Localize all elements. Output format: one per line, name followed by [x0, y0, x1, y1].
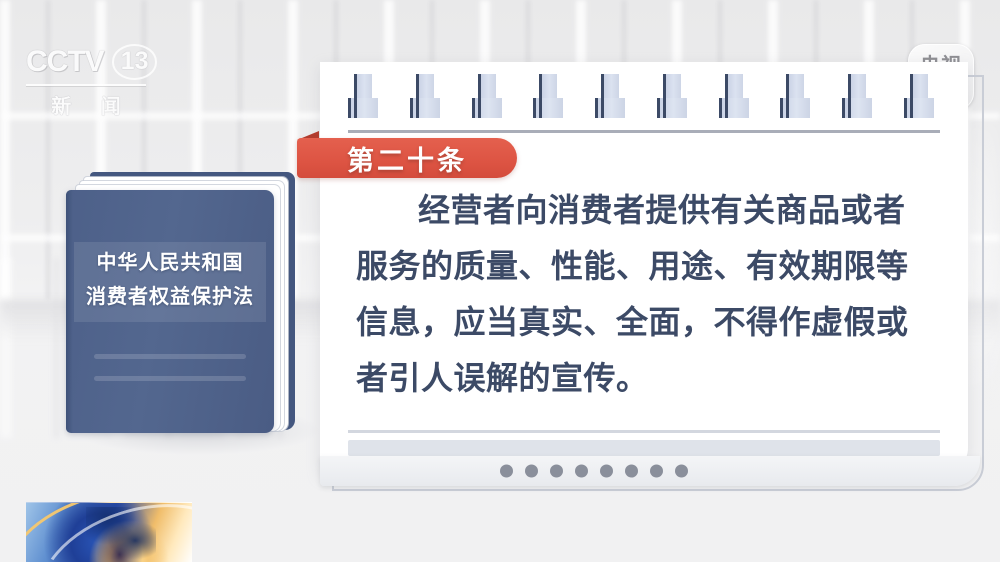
binding-ring-top: [911, 74, 928, 100]
binding-ring-shadow: [410, 98, 413, 118]
binding-ring: [657, 74, 691, 118]
article-number-ribbon: 第二十条: [297, 138, 517, 178]
book-title: 中华人民共和国 消费者权益保护法: [74, 246, 266, 314]
card-bottom-slot: [348, 440, 940, 456]
book-title-line-1: 中华人民共和国: [74, 246, 266, 280]
book-title-line-2: 消费者权益保护法: [74, 280, 266, 314]
binding-ring-shadow: [601, 74, 604, 118]
binding-ring-top: [479, 74, 496, 100]
page-indicator-dot: [550, 465, 563, 478]
binding-ring-top: [540, 74, 557, 100]
book-decor-line: [94, 376, 246, 381]
binding-ring-shadow: [595, 98, 598, 118]
binding-ring: [842, 74, 876, 118]
binding-ring-shadow: [786, 74, 789, 118]
book-front-cover: 中华人民共和国 消费者权益保护法: [66, 190, 274, 433]
card-bottom-rule: [348, 430, 940, 433]
binding-ring-shadow: [719, 98, 722, 118]
binding-ring-shadow: [780, 98, 783, 118]
page-indicator-dots: [500, 465, 688, 478]
binding-ring-top: [726, 74, 743, 100]
binding-ring-top: [417, 74, 434, 100]
cctv-logo-row: CCTV 13: [26, 42, 162, 82]
binding-ring-shadow: [657, 98, 660, 118]
note-card-footer-bar: [320, 456, 980, 486]
article-line-4: 引人误解的宣传。: [389, 360, 649, 396]
page-indicator-dot: [600, 465, 613, 478]
binding-ring-shadow: [478, 74, 481, 118]
binding-ring-base: [719, 98, 749, 118]
page-indicator-dot: [625, 465, 638, 478]
page-indicator-dot: [575, 465, 588, 478]
binding-ring-base: [348, 98, 378, 118]
binding-ring-top: [849, 74, 866, 100]
binding-ring: [472, 74, 506, 118]
binding-ring-shadow: [842, 98, 845, 118]
notebook-binding-rings: [348, 74, 938, 118]
law-book: 中华人民共和国 消费者权益保护法: [66, 172, 301, 437]
page-indicator-dot: [675, 465, 688, 478]
binding-ring: [348, 74, 382, 118]
binding-ring-shadow: [354, 74, 357, 118]
binding-ring-base: [657, 98, 687, 118]
binding-ring-base: [904, 98, 934, 118]
article-body-text: 经营者向消费者提供有关商品或者服务的质量、性能、用途、有效期限等信息，应当真实、…: [356, 182, 934, 406]
cctv-logo-rule: [26, 84, 146, 86]
cctv-wordmark: CCTV: [26, 47, 104, 77]
book-decor-line: [94, 354, 246, 359]
binding-ring: [719, 74, 753, 118]
page-indicator-dot: [525, 465, 538, 478]
binding-ring-top: [664, 74, 681, 100]
note-card: 经营者向消费者提供有关商品或者服务的质量、性能、用途、有效期限等信息，应当真实、…: [320, 62, 968, 474]
binding-ring-top: [602, 74, 619, 100]
binding-ring: [780, 74, 814, 118]
binding-ring-shadow: [725, 74, 728, 118]
card-top-rule: [348, 130, 940, 133]
page-indicator-dot: [650, 465, 663, 478]
cctv-channel-number: 13: [112, 44, 158, 80]
binding-ring: [410, 74, 444, 118]
cctv-logo-subtitle: 新 闻: [26, 90, 146, 119]
binding-ring-shadow: [910, 74, 913, 118]
binding-ring-shadow: [904, 98, 907, 118]
page-indicator-dot: [500, 465, 513, 478]
binding-ring-shadow: [539, 74, 542, 118]
binding-ring-top: [355, 74, 372, 100]
binding-ring-shadow: [663, 74, 666, 118]
binding-ring-shadow: [416, 74, 419, 118]
article-line-2: 服务的质量、性能、用途、有效期限等: [356, 248, 909, 284]
cctv-13-watermark: CCTV 13 新 闻: [26, 42, 162, 108]
article-line-1: 经营者向消费者提供有关商品或者: [418, 192, 906, 228]
binding-ring-base: [533, 98, 563, 118]
news-globe-graphic: [26, 502, 192, 562]
book-spine: [66, 190, 73, 433]
binding-ring-shadow: [848, 74, 851, 118]
binding-ring-base: [595, 98, 625, 118]
binding-ring-top: [787, 74, 804, 100]
binding-ring-shadow: [472, 98, 475, 118]
binding-ring: [595, 74, 629, 118]
binding-ring-base: [780, 98, 810, 118]
binding-ring-base: [410, 98, 440, 118]
binding-ring-shadow: [348, 98, 351, 118]
binding-ring-base: [842, 98, 872, 118]
ribbon-label: 第二十条: [347, 139, 467, 178]
binding-ring: [533, 74, 567, 118]
binding-ring-base: [472, 98, 502, 118]
binding-ring: [904, 74, 938, 118]
binding-ring-shadow: [533, 98, 536, 118]
broadcast-graphic-screen: CCTV 13 新 闻 央视 新 闻 经营者向消费者提供有关商品或者服务的质量、…: [0, 0, 1000, 562]
